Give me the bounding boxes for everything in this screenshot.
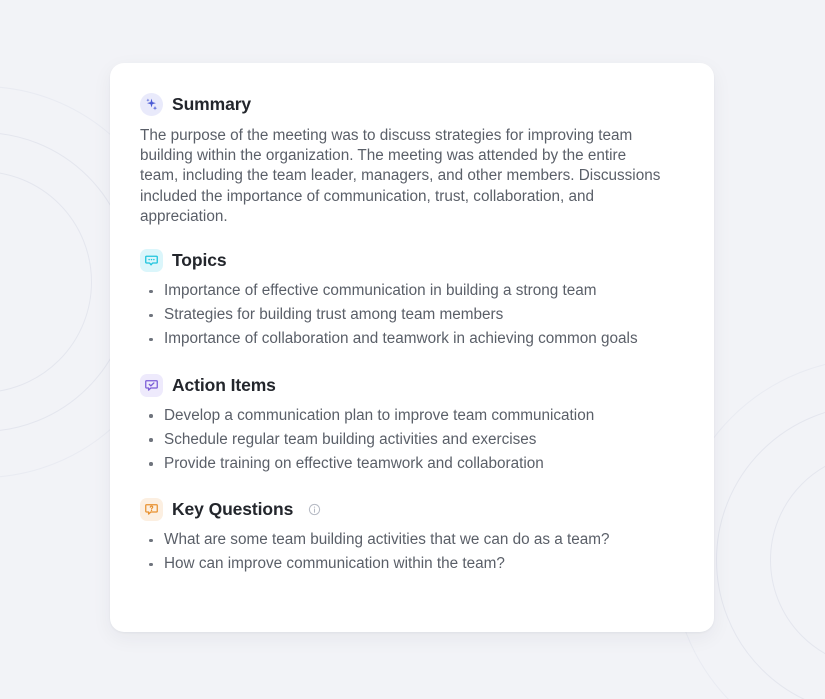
- decorative-ring-left-inner: [0, 171, 92, 393]
- list-item: Importance of collaboration and teamwork…: [140, 329, 665, 350]
- list-item: Strategies for building trust among team…: [140, 305, 665, 326]
- section-header-summary: Summary: [140, 93, 680, 116]
- chat-bubble-dots-icon: [140, 249, 163, 272]
- section-title-summary: Summary: [172, 94, 251, 115]
- sparkle-icon: [140, 93, 163, 116]
- list-item: Develop a communication plan to improve …: [140, 406, 665, 427]
- action-items-list: Develop a communication plan to improve …: [140, 406, 680, 475]
- section-header-topics: Topics: [140, 249, 680, 272]
- section-title-key-questions: Key Questions: [172, 499, 293, 520]
- section-header-action-items: Action Items: [140, 374, 680, 397]
- decorative-ring-right-middle: [716, 405, 825, 699]
- topics-list: Importance of effective communication in…: [140, 281, 680, 350]
- list-item: What are some team building activities t…: [140, 530, 665, 551]
- list-item: Importance of effective communication in…: [140, 281, 665, 302]
- meeting-summary-card: Summary The purpose of the meeting was t…: [110, 63, 714, 632]
- list-item: Provide training on effective teamwork a…: [140, 454, 665, 475]
- summary-paragraph: The purpose of the meeting was to discus…: [140, 126, 663, 227]
- section-title-topics: Topics: [172, 250, 227, 271]
- list-item: Schedule regular team building activitie…: [140, 430, 665, 451]
- chat-bubble-check-icon: [140, 374, 163, 397]
- chat-bubble-question-icon: [140, 498, 163, 521]
- decorative-ring-right-inner: [770, 452, 825, 668]
- section-title-action-items: Action Items: [172, 375, 276, 396]
- section-header-key-questions: Key Questions: [140, 498, 680, 521]
- key-questions-list: What are some team building activities t…: [140, 530, 680, 575]
- list-item: How can improve communication within the…: [140, 554, 665, 575]
- info-circle-icon[interactable]: [308, 503, 321, 516]
